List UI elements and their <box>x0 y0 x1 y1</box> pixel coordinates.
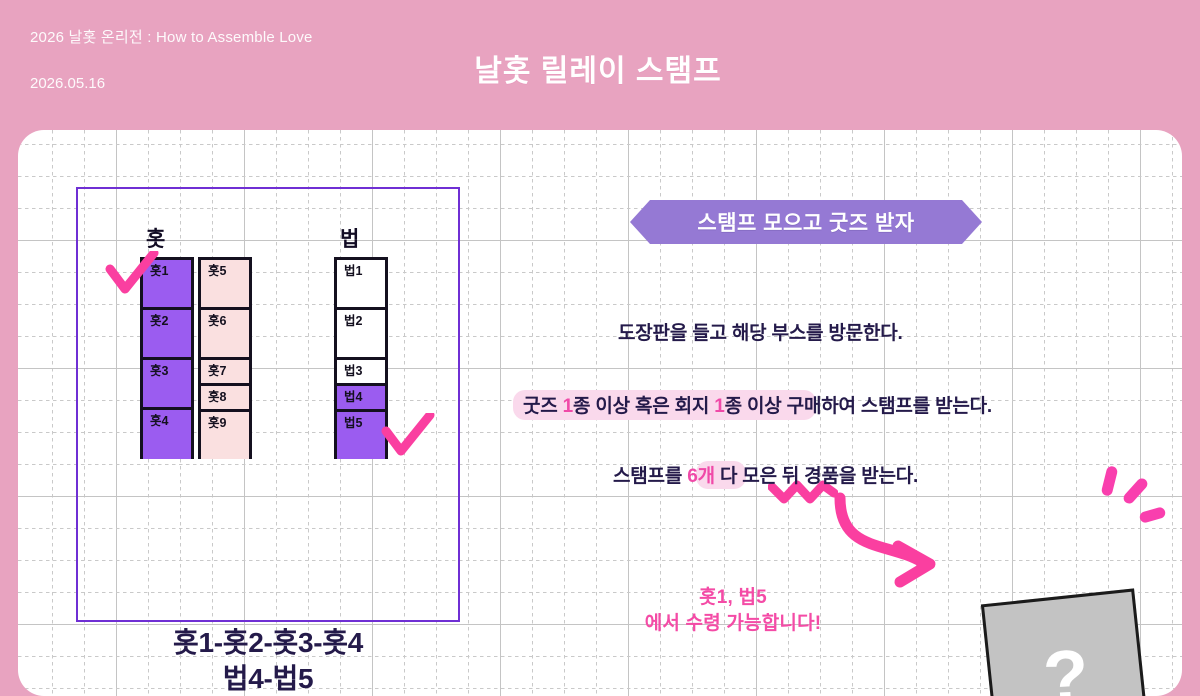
pickup-note: 홋1, 법5 에서 수령 가능합니다! <box>608 585 858 636</box>
stamp-column-hot-right: 홋5 홋6 홋7 홋8 홋9 <box>198 257 252 459</box>
page-title-text: 날홋 릴레이 스탬프 <box>474 46 721 90</box>
check-mark-hot1-icon <box>104 251 160 297</box>
stamp-cell-hot7[interactable]: 홋7 <box>201 360 249 386</box>
step3-emphasis: 경품 <box>804 466 839 487</box>
question-mark-icon: ? <box>988 593 1144 696</box>
column-label-hot: 홋 <box>146 223 165 253</box>
stamp-cell-hot2[interactable]: 홋2 <box>143 310 191 360</box>
stamp-cell-hot5[interactable]: 홋5 <box>201 260 249 310</box>
stamp-cell-hot9[interactable]: 홋9 <box>201 412 249 459</box>
step2-part-c: 종 이상 구매하여 스탬프를 받는다. <box>725 396 992 417</box>
stamp-cell-hot6[interactable]: 홋6 <box>201 310 249 360</box>
instruction-step-3: 스탬프를 6개 다 모은 뒤 경품을 받는다. <box>613 467 918 486</box>
pickup-note-line-1: 홋1, 법5 <box>608 585 858 611</box>
stamp-cell-hot3[interactable]: 홋3 <box>143 360 191 410</box>
stamp-cell-beop1[interactable]: 법1 <box>337 260 385 310</box>
stamp-cell-beop2[interactable]: 법2 <box>337 310 385 360</box>
content-sheet: 홋 법 홋1 홋2 홋3 홋4 홋5 홋6 홋7 홋8 홋9 법1 법2 법3 <box>18 130 1182 696</box>
event-subtitle: 2026 날홋 온리전 : How to Assemble Love <box>30 30 460 45</box>
stamp-board: 홋 법 홋1 홋2 홋3 홋4 홋5 홋6 홋7 홋8 홋9 법1 법2 법3 <box>76 187 460 622</box>
stamp-cell-beop4[interactable]: 법4 <box>337 386 385 412</box>
section-banner: 스탬프 모으고 굿즈 받자 <box>630 200 982 244</box>
instruction-step-2: 굿즈 1종 이상 혹은 회지 1종 이상 구매하여 스탬프를 받는다. <box>523 397 992 416</box>
step3-part-b: 다 모은 뒤 <box>715 466 804 487</box>
section-banner-label: 스탬프 모으고 굿즈 받자 <box>697 207 914 237</box>
route-line-2: 법4-법5 <box>76 661 460 696</box>
step2-count-1: 1 <box>563 396 573 417</box>
poster-canvas: 2026 날홋 온리전 : How to Assemble Love 2026.… <box>0 0 1200 696</box>
step2-part-a: 굿즈 <box>523 396 563 417</box>
route-summary: 홋1-홋2-홋3-홋4 법4-법5 <box>76 625 460 696</box>
instruction-step-1: 도장판을 들고 해당 부스를 방문한다. <box>618 324 903 343</box>
stamp-cell-beop5[interactable]: 법5 <box>337 412 385 459</box>
step2-count-2: 1 <box>714 396 724 417</box>
route-line-1: 홋1-홋2-홋3-홋4 <box>76 625 460 661</box>
stamp-cell-hot4[interactable]: 홋4 <box>143 410 191 459</box>
stamp-cell-beop3[interactable]: 법3 <box>337 360 385 386</box>
mystery-prize-box[interactable]: ? <box>981 588 1151 696</box>
step3-part-c: 을 받는다. <box>839 466 918 487</box>
column-label-beop: 법 <box>340 223 359 253</box>
page-title: 날홋 릴레이 스탬프 <box>0 46 1200 90</box>
check-mark-beop5-icon <box>380 413 436 459</box>
pickup-note-line-2: 에서 수령 가능합니다! <box>608 611 858 637</box>
step3-count: 6개 <box>687 466 715 487</box>
step3-part-a: 스탬프를 <box>613 466 687 487</box>
curved-arrow-icon <box>818 490 988 600</box>
stamp-cell-hot8[interactable]: 홋8 <box>201 386 249 412</box>
step2-part-b: 종 이상 혹은 회지 <box>573 396 714 417</box>
